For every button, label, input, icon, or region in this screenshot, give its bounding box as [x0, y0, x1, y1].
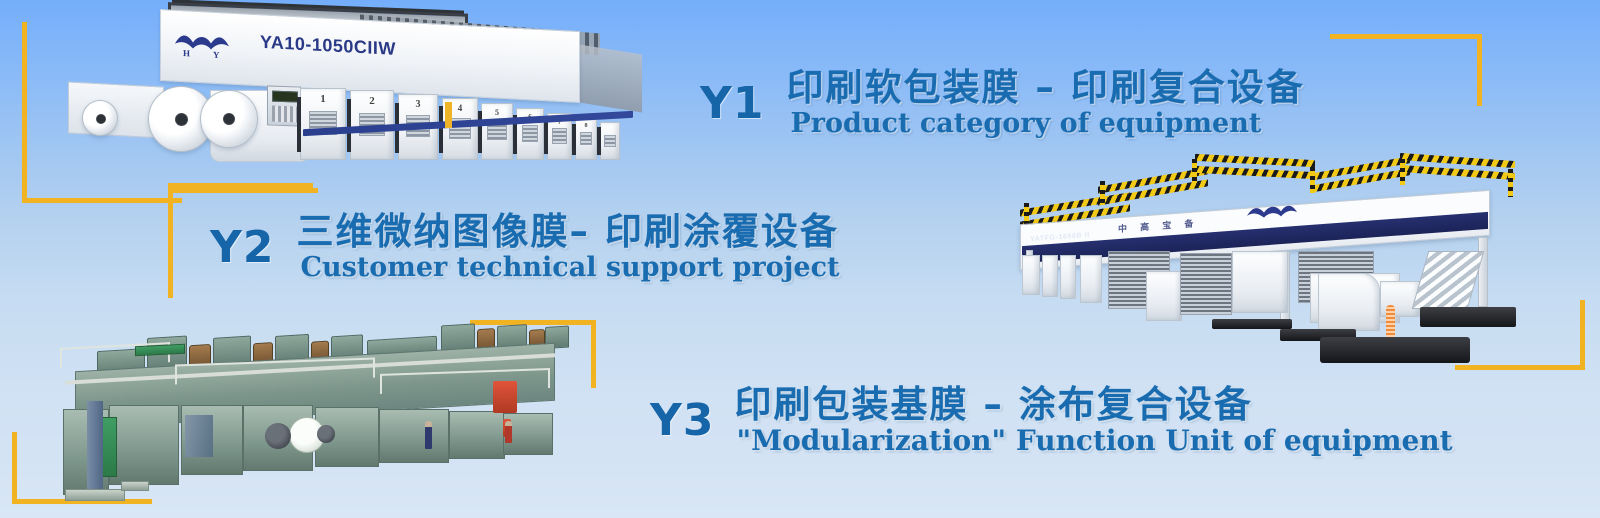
dark-roller [265, 423, 291, 449]
process-module [1146, 271, 1182, 321]
flexible-hose [1386, 305, 1395, 339]
bracket-top-left-upright [22, 22, 27, 187]
press-yellow-marker [445, 102, 452, 128]
svg-text:H: H [183, 48, 190, 58]
support-column [1478, 237, 1488, 307]
svg-text:Y: Y [213, 50, 220, 60]
press-reel-small [82, 100, 118, 136]
heading-chinese-y2: 三维微纳图像膜– 印刷涂覆设备 [296, 212, 839, 251]
heading-chinese-y3: 印刷包装基膜 – 涂布复合设备 [734, 385, 1452, 424]
railing-post [1508, 169, 1513, 197]
process-module [1080, 255, 1102, 303]
safety-railing-segment [1195, 154, 1315, 167]
machine-base [1212, 319, 1292, 329]
machine-photo-green-coater [35, 305, 575, 505]
press-unit: 8 [575, 118, 597, 160]
press-panel-screen [272, 91, 298, 103]
railing-post [1310, 167, 1315, 193]
railing-post [1192, 159, 1197, 183]
code-label-y2: Y2 [210, 212, 274, 270]
press-unit-number: 8 [585, 123, 588, 129]
machine-photo-coating-laminator: 中 高 宝 备 YATFG-1650B II [980, 155, 1520, 370]
winder-module [1318, 273, 1380, 331]
dark-roller [317, 425, 335, 443]
machine-photo-gravure-press: H Y YA10-1050CIIW 1 2 [60, 2, 640, 172]
roller-stack [1180, 253, 1232, 315]
process-module [1022, 255, 1040, 295]
process-module [1060, 255, 1076, 299]
heading-english-y2: Customer technical support project [300, 254, 839, 282]
press-unit: 1 [300, 88, 346, 160]
press-unit-number: 4 [458, 103, 463, 113]
machine-base [1320, 337, 1470, 363]
safety-railing-segment [1400, 165, 1515, 180]
text-block-y3: Y3 印刷包装基膜 – 涂布复合设备 "Modularization" Func… [650, 385, 1453, 456]
code-label-y3: Y3 [650, 385, 714, 443]
press-control-panel [267, 85, 301, 126]
process-module [1232, 251, 1288, 313]
hy-brand-logo-icon [1245, 201, 1299, 227]
machine-foot [121, 481, 149, 491]
press-reel-large-2 [200, 90, 258, 148]
railing-post [1400, 159, 1405, 185]
press-unit-number: 3 [416, 99, 421, 110]
press-unit-number: 1 [320, 93, 326, 105]
blue-side-panel [87, 401, 103, 491]
bracket-top-left [22, 183, 182, 203]
hy-brand-logo-icon: H Y [173, 30, 231, 59]
railing-post [1024, 203, 1029, 225]
worker-figure [425, 421, 432, 449]
worker-figure [505, 421, 512, 443]
code-label-y1: Y1 [700, 68, 764, 126]
machine-foot [65, 489, 125, 501]
heading-english-y3: "Modularization" Function Unit of equipm… [736, 426, 1452, 455]
blue-side-panel [185, 415, 213, 457]
access-stairs [1412, 251, 1485, 309]
coater-lower-body [449, 411, 505, 459]
press-panel-keypad [272, 106, 298, 123]
press-unit [600, 122, 620, 160]
process-module [1042, 255, 1058, 297]
coater-lower-body [109, 405, 179, 485]
press-unit-number: 2 [369, 95, 375, 107]
railing-post [1100, 181, 1105, 205]
press-unit-number: 5 [495, 108, 499, 117]
coater-lower-body [379, 409, 449, 463]
safety-railing-segment [1195, 166, 1315, 179]
heading-chinese-y1: 印刷软包装膜 – 印刷复合设备 [786, 68, 1304, 107]
product-category-banner: H Y YA10-1050CIIW 1 2 [0, 0, 1600, 518]
machine-base [1420, 307, 1516, 327]
text-block-y1: Y1 印刷软包装膜 – 印刷复合设备 Product category of e… [700, 68, 1305, 139]
press-unit: 5 [481, 103, 513, 160]
heading-english-y1: Product category of equipment [790, 110, 1304, 138]
red-component [493, 381, 517, 413]
bracket-top-right [1330, 34, 1482, 106]
text-block-y2: Y2 三维微纳图像膜– 印刷涂覆设备 Customer technical su… [210, 212, 840, 283]
